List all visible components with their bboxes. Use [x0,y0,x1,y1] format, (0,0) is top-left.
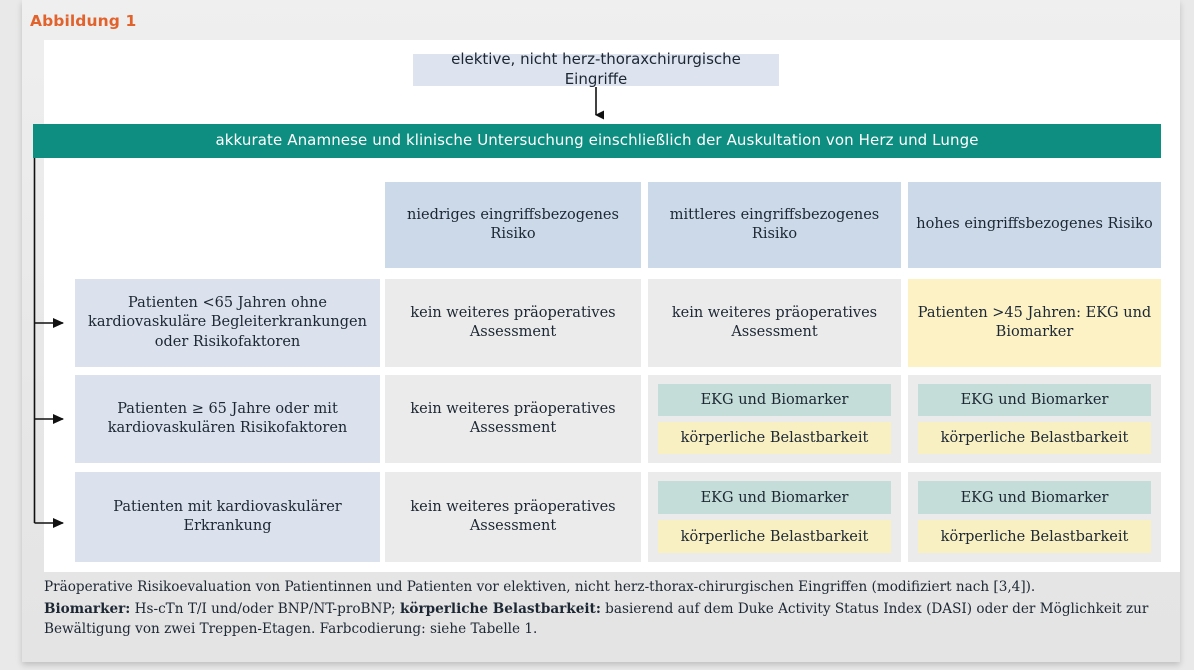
row-1-cell-low: kein weiteres präoperatives Assessment [385,279,641,367]
row-1-cell-medium-text: kein weiteres präoperatives Assessment [656,304,893,342]
entry-box-label: elektive, nicht herz-thoraxchirurgische … [421,50,771,90]
figure-container: Abbildung 1 elektive, nicht herz-thoraxc… [0,0,1194,670]
figure-title: Abbildung 1 [30,12,136,30]
caption-bold-biomarker: Biomarker: [44,601,130,617]
entry-box: elektive, nicht herz-thoraxchirurgische … [413,54,779,86]
column-header-medium: mittleres eingriffsbezogenes Risiko [648,182,901,268]
row-3-cell-high-ekg: EKG und Biomarker [918,481,1151,514]
caption-line-2: Biomarker: Hs-cTn T/I und/oder BNP/NT-pr… [44,600,1184,639]
row-1-cell-high-text: Patienten >45 Jahren: EKG und Biomarker [916,304,1153,342]
column-header-low: niedriges eingriffsbezogenes Risiko [385,182,641,268]
row-1-cell-medium: kein weiteres präoperatives Assessment [648,279,901,367]
row-2-cell-high: EKG und Biomarker körperliche Belastbark… [908,375,1161,463]
row-label-2-text: Patienten ≥ 65 Jahre oder mit kardiovask… [83,400,372,438]
column-header-high: hohes eingriffsbezogenes Risiko [908,182,1161,268]
row-3-cell-medium-ekg: EKG und Biomarker [658,481,891,514]
header-bar-label: akkurate Anamnese und klinische Untersuc… [215,131,978,151]
caption-bold-capacity: körperliche Belastbarkeit: [400,601,601,617]
row-2-cell-high-ekg: EKG und Biomarker [918,384,1151,416]
row-label-3-text: Patienten mit kardiovaskulärer Erkrankun… [83,498,372,536]
column-header-low-label: niedriges eingriffsbezogenes Risiko [393,206,633,244]
caption-text-biomarker: Hs-cTn T/I und/oder BNP/NT-proBNP; [130,601,400,617]
row-label-3: Patienten mit kardiovaskulärer Erkrankun… [75,472,380,562]
row-2-cell-high-capacity: körperliche Belastbarkeit [918,422,1151,454]
column-header-medium-label: mittleres eingriffsbezogenes Risiko [656,206,893,244]
row-2-cell-low: kein weiteres präoperatives Assessment [385,375,641,463]
row-3-cell-low: kein weiteres präoperatives Assessment [385,472,641,562]
row-3-cell-medium: EKG und Biomarker körperliche Belastbark… [648,472,901,562]
caption-line-1: Präoperative Risikoevaluation von Patien… [44,578,1184,597]
header-bar: akkurate Anamnese und klinische Untersuc… [33,124,1161,158]
row-3-cell-high-capacity: körperliche Belastbarkeit [918,520,1151,553]
figure-caption: Präoperative Risikoevaluation von Patien… [44,578,1184,639]
row-label-1: Patienten <65 Jahren ohne kardiovaskulär… [75,279,380,367]
row-label-2: Patienten ≥ 65 Jahre oder mit kardiovask… [75,375,380,463]
row-2-cell-low-text: kein weiteres präoperatives Assessment [393,400,633,438]
row-3-cell-low-text: kein weiteres präoperatives Assessment [393,498,633,536]
row-1-cell-low-text: kein weiteres präoperatives Assessment [393,304,633,342]
row-2-cell-medium-capacity: körperliche Belastbarkeit [658,422,891,454]
row-2-cell-medium-ekg: EKG und Biomarker [658,384,891,416]
row-3-cell-high: EKG und Biomarker körperliche Belastbark… [908,472,1161,562]
row-label-1-text: Patienten <65 Jahren ohne kardiovaskulär… [83,294,372,351]
column-header-high-label: hohes eingriffsbezogenes Risiko [916,215,1152,234]
row-1-cell-high: Patienten >45 Jahren: EKG und Biomarker [908,279,1161,367]
row-2-cell-medium: EKG und Biomarker körperliche Belastbark… [648,375,901,463]
row-3-cell-medium-capacity: körperliche Belastbarkeit [658,520,891,553]
